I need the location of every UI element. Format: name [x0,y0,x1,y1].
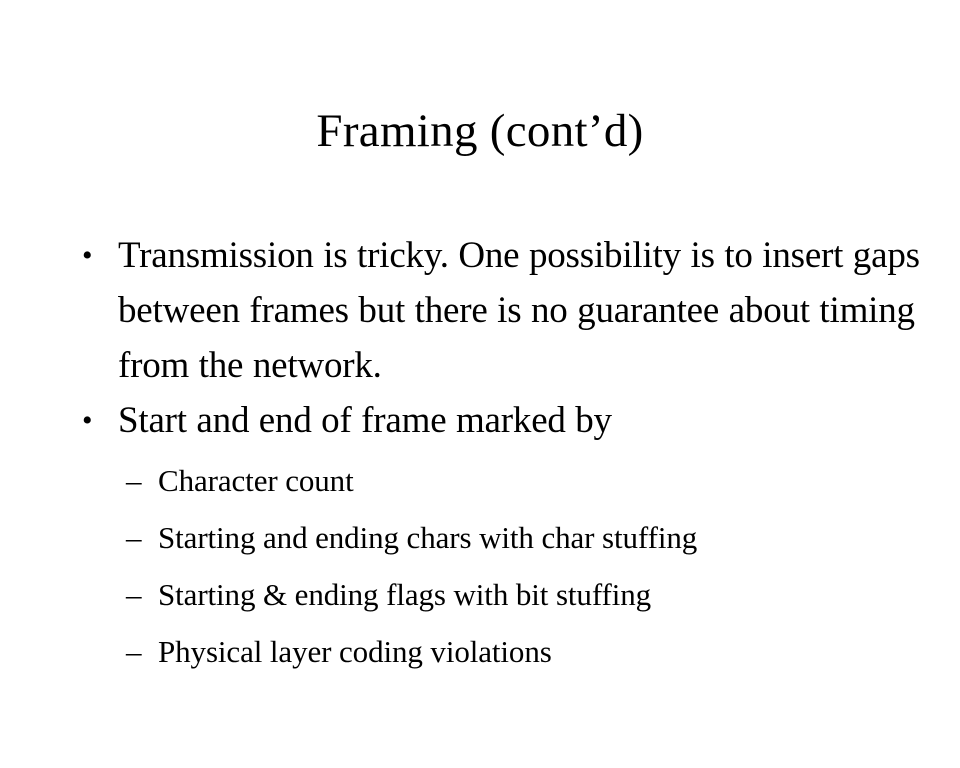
sub-bullet-text: Starting & ending flags with bit stuffin… [158,566,920,623]
sub-bullet-list: – Character count – Starting and ending … [0,452,960,680]
list-item: – Character count [0,452,960,509]
list-item: – Starting & ending flags with bit stuff… [0,566,960,623]
bullet-dash-icon: – [126,566,152,623]
bullet-dash-icon: – [126,623,152,680]
sub-bullet-text: Character count [158,452,920,509]
bullet-dash-icon: – [126,452,152,509]
list-item: – Physical layer coding violations [0,623,960,680]
sub-bullet-text: Starting and ending chars with char stuf… [158,509,920,566]
list-item: • Transmission is tricky. One possibilit… [0,228,960,393]
list-item: • Start and end of frame marked by [0,393,960,448]
bullet-dot-icon: • [82,228,106,283]
presentation-slide: Framing (cont’d) • Transmission is trick… [0,0,960,768]
page-title: Framing (cont’d) [0,103,960,159]
list-item: – Starting and ending chars with char st… [0,509,960,566]
sub-bullet-text: Physical layer coding violations [158,623,920,680]
bullet-dot-icon: • [82,393,106,448]
slide-body: • Transmission is tricky. One possibilit… [0,228,960,680]
bullet-dash-icon: – [126,509,152,566]
bullet-text: Start and end of frame marked by [118,393,920,448]
bullet-text: Transmission is tricky. One possibility … [118,228,920,393]
